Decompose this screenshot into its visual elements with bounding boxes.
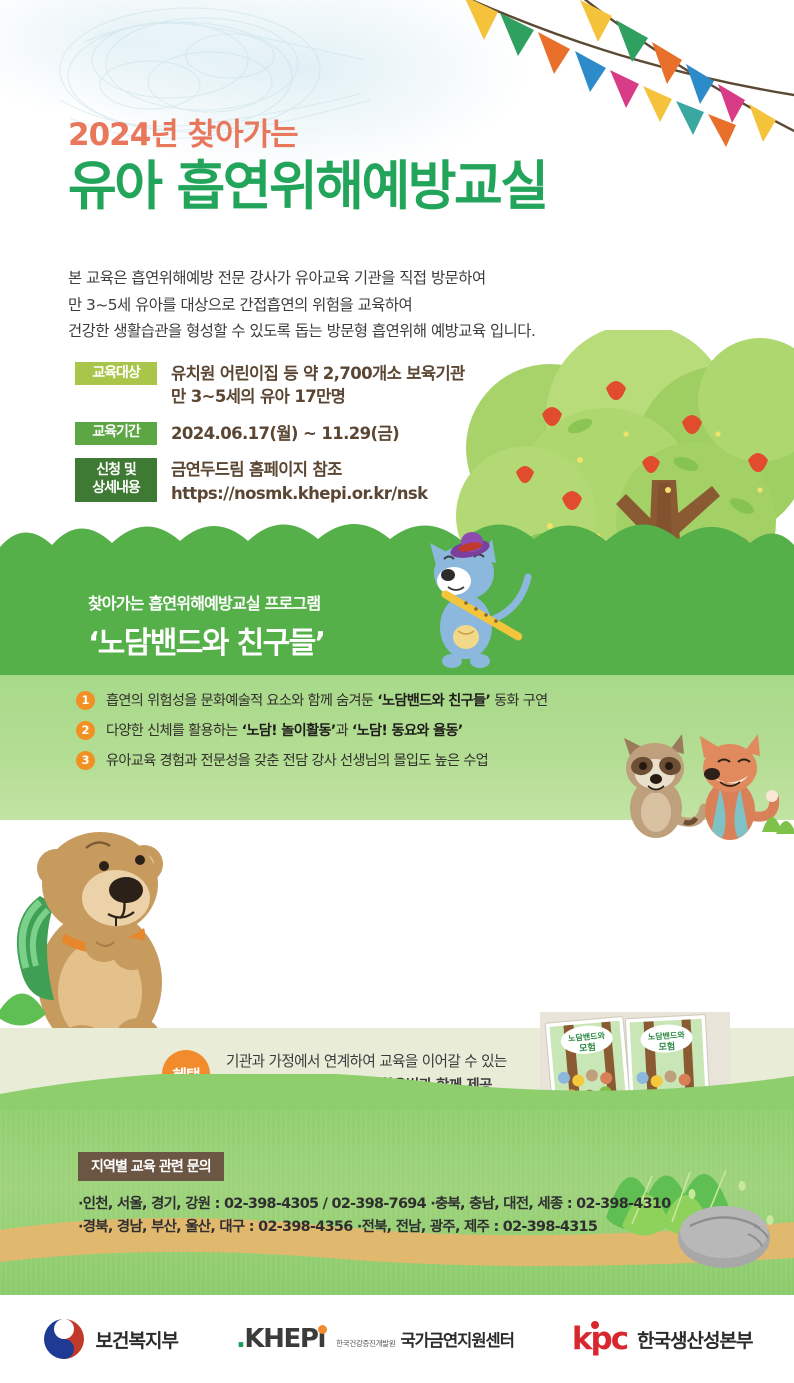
field-top-curve xyxy=(0,1074,794,1110)
khepi-center-name: 국가금연지원센터 xyxy=(400,1331,513,1350)
info-tag-apply-line-2: 상세내용 xyxy=(92,480,140,498)
info-value-period: 2024.06.17(월) ~ 11.29(금) xyxy=(171,422,399,445)
info-value-target-line-2: 만 3~5세의 유아 17만명 xyxy=(171,385,465,408)
band-scallop-edge xyxy=(0,521,794,565)
kpc-mark-text: kpc xyxy=(572,1321,627,1357)
khepi-mark-text: KHEPi xyxy=(244,1324,325,1354)
program-band: 찾아가는 흡연위해예방교실 프로그램 ‘노담밴드와 친구들’ xyxy=(0,555,794,675)
list-item-text-bold-2: ‘노담! 동요와 율동’ xyxy=(352,723,463,739)
list-item-text: 다양한 신체를 활용하는 ‘노담! 놀이활동’과 ‘노담! 동요와 율동’ xyxy=(106,720,463,740)
info-value-period-line-1: 2024.06.17(월) ~ 11.29(금) xyxy=(171,422,399,445)
logo-mohw-label: 보건복지부 xyxy=(96,1326,178,1353)
khepi-orange-dot-icon xyxy=(318,1325,327,1334)
contact-heading: 지역별 교육 관련 문의 xyxy=(78,1152,224,1181)
list-item-text-post: 동화 구연 xyxy=(490,693,547,709)
svg-text:노담밴드와: 노담밴드와 xyxy=(648,1030,686,1042)
poster-year-line: 2024년 찾아가는 xyxy=(68,118,748,152)
info-row-target: 교육대상 유치원 어린이집 등 약 2,700개소 보육기관 만 3~5세의 유… xyxy=(75,362,635,409)
khepi-right-text: 한국건강증진개발원 국가금연지원센터 xyxy=(336,1327,514,1351)
benefit-line-1: 기관과 가정에서 연계하여 교육을 이어갈 수 있는 xyxy=(226,1050,507,1074)
taegeuk-icon xyxy=(42,1317,86,1361)
info-value-apply: 금연두드림 홈페이지 참조 https://nosmk.khepi.or.kr/… xyxy=(171,458,427,505)
svg-text:모험: 모험 xyxy=(658,1040,675,1053)
list-item-text-pre: 다양한 신체를 활용하는 xyxy=(106,723,242,739)
kpc-wordmark: kpc xyxy=(572,1324,627,1355)
info-tag-apply: 신청 및 상세내용 xyxy=(75,458,157,502)
lead-line-1: 본 교육은 흡연위해예방 전문 강사가 유아교육 기관을 직접 방문하여 xyxy=(68,265,768,292)
info-value-apply-line-1: 금연두드림 홈페이지 참조 xyxy=(171,458,427,481)
lead-line-2: 만 3~5세 유아를 대상으로 간접흡연의 위험을 교육하여 xyxy=(68,292,768,319)
info-block: 교육대상 유치원 어린이집 등 약 2,700개소 보육기관 만 3~5세의 유… xyxy=(75,362,635,518)
list-item-number: 1 xyxy=(76,691,95,710)
list-item-text-pre: 흡연의 위험성을 문화예술적 요소와 함께 숨겨둔 xyxy=(106,693,377,709)
list-item-number: 3 xyxy=(76,751,95,770)
contact-lines: ·인천, 서울, 경기, 강원 : 02-398-4305 / 02-398-7… xyxy=(78,1193,718,1240)
list-item-text-mid: 과 xyxy=(336,723,352,739)
logo-mohw: 보건복지부 xyxy=(42,1317,178,1361)
info-tag-target: 교육대상 xyxy=(75,362,157,385)
contact-line-1: ·인천, 서울, 경기, 강원 : 02-398-4305 / 02-398-7… xyxy=(78,1193,718,1216)
khepi-wordmark: .KHEPi xyxy=(236,1324,325,1354)
logo-kpc: kpc 한국생산성본부 xyxy=(572,1324,753,1355)
info-row-apply: 신청 및 상세내용 금연두드림 홈페이지 참조 https://nosmk.kh… xyxy=(75,458,635,505)
info-row-period: 교육기간 2024.06.17(월) ~ 11.29(금) xyxy=(75,422,635,445)
list-item-text: 유아교육 경험과 전문성을 갖춘 전담 강사 선생님의 몰입도 높은 수업 xyxy=(106,750,488,770)
poster-title-block: 2024년 찾아가는 유아 흡연위해예방교실 xyxy=(68,118,748,216)
kpc-dot-icon xyxy=(591,1321,599,1329)
contact-block: 지역별 교육 관련 문의 ·인천, 서울, 경기, 강원 : 02-398-43… xyxy=(78,1152,718,1240)
list-item-text: 흡연의 위험성을 문화예술적 요소와 함께 숨겨둔 ‘노담밴드와 친구들’ 동화… xyxy=(106,690,548,710)
khepi-institute-name: 한국건강증진개발원 xyxy=(336,1339,395,1348)
poster-root: 2024년 찾아가는 유아 흡연위해예방교실 본 교육은 흡연위해예방 전문 강… xyxy=(0,0,794,1383)
info-tag-apply-line-1: 신청 및 xyxy=(96,462,136,480)
blue-cat-character xyxy=(418,525,568,675)
list-item-text-bold: ‘노담! 놀이활동’ xyxy=(242,723,336,739)
logo-khepi: .KHEPi 한국건강증진개발원 국가금연지원센터 xyxy=(236,1324,514,1354)
contact-line-2: ·경북, 경남, 부산, 울산, 대구 : 02-398-4356 ·전북, 전… xyxy=(78,1216,718,1239)
list-item-text-bold: ‘노담밴드와 친구들’ xyxy=(377,693,490,709)
info-tag-period: 교육기간 xyxy=(75,422,157,445)
info-value-target: 유치원 어린이집 등 약 2,700개소 보육기관 만 3~5세의 유아 17만… xyxy=(171,362,465,409)
list-item-text-pre: 유아교육 경험과 전문성을 갖춘 전담 강사 선생님의 몰입도 높은 수업 xyxy=(106,753,488,769)
logo-kpc-label: 한국생산성본부 xyxy=(637,1326,752,1353)
list-item-number: 2 xyxy=(76,721,95,740)
apply-url-link[interactable]: https://nosmk.khepi.or.kr/nsk xyxy=(171,482,427,505)
footer-logos: 보건복지부 .KHEPi 한국건강증진개발원 국가금연지원센터 kpc 한국생산… xyxy=(0,1295,794,1383)
info-value-target-line-1: 유치원 어린이집 등 약 2,700개소 보육기관 xyxy=(171,362,465,385)
poster-main-title: 유아 흡연위해예방교실 xyxy=(68,158,748,216)
list-item: 1 흡연의 위험성을 문화예술적 요소와 함께 숨겨둔 ‘노담밴드와 친구들’ … xyxy=(76,690,736,710)
